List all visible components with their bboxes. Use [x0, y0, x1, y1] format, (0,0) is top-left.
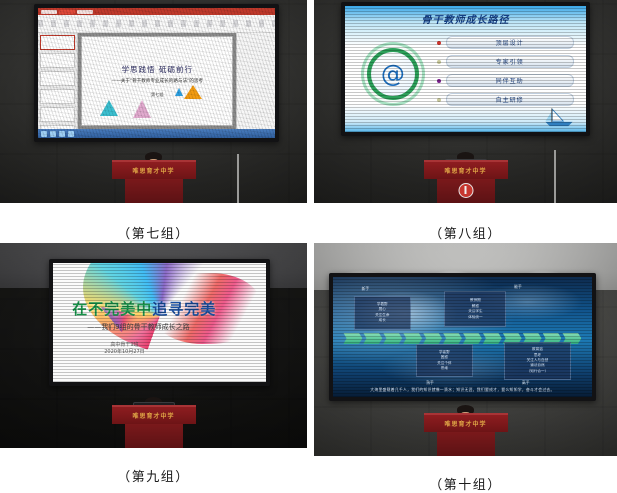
podium: 唯思育才中学	[112, 160, 196, 203]
led-screen: 学思践悟 砥砺前行 ——关于"骨干教师专业成长的路与法"的思考 第七组	[38, 8, 276, 138]
powerpoint-titlebar	[38, 8, 276, 15]
timeline-chevron-icon	[363, 333, 382, 344]
screen-stand	[237, 154, 239, 203]
figure-caption-group-9: （第九组）	[0, 466, 307, 485]
led-screen: 学着野 展心 关注生命 成长 教师期 解惑 关注学生 体验统一	[333, 277, 592, 397]
photo-group-7: 学思践悟 砥砺前行 ——关于"骨干教师专业成长的路与法"的思考 第七组	[0, 0, 307, 203]
bullet-label: 顶层设计	[446, 36, 574, 49]
stage-label-master: 高手	[522, 380, 530, 386]
photo-grid: 学思践悟 砥砺前行 ——关于"骨干教师专业成长的路与法"的思考 第七组	[0, 0, 617, 493]
led-screen: 在不完美中追寻完美 ——我们9组的骨干教师成长之路 高中骨干9班 2020年10…	[53, 263, 266, 382]
slide-thumbnail	[40, 35, 75, 50]
sailboat-icon	[542, 105, 576, 127]
podium-base	[125, 424, 183, 448]
podium-front-panel: 唯思育才中学	[112, 160, 196, 179]
led-screen-frame: 学思践悟 砥砺前行 ——关于"骨干教师专业成长的路与法"的思考 第七组	[34, 4, 280, 142]
powerpoint-body: 学思践悟 砥砺前行 ——关于"骨干教师专业成长的路与法"的思考 第七组	[38, 33, 276, 129]
podium-base	[437, 432, 495, 456]
bullet-label: 同伴互助	[446, 74, 574, 87]
bullet-row: 顶层设计	[437, 36, 574, 49]
photo-group-8: 骨干教师成长路径 @ 顶层设计 专家引领	[314, 0, 617, 203]
timeline-chevron-icon	[443, 333, 462, 344]
timeline-chevron-icon	[343, 333, 362, 344]
stage-label-expert: 能手	[514, 284, 522, 290]
podium-base	[437, 179, 495, 203]
led-screen: 骨干教师成长路径 @ 顶层设计 专家引领	[345, 6, 585, 132]
slide-meta-date: 2020年10月27日	[104, 349, 144, 357]
podium-school-name: 唯思育才中学	[132, 411, 174, 420]
format-side-pane	[236, 33, 275, 129]
figure-caption-group-10: （第十组）	[314, 474, 617, 493]
slide-subtitle: ——关于"骨干教师专业成长的路与法"的思考	[112, 78, 204, 84]
roadmap-box-lower-center: 学者野 困惑 关注个体 思维	[416, 344, 473, 378]
box-line: 思维	[441, 366, 448, 371]
slide-title: 学思践悟 砥砺前行	[122, 64, 193, 75]
slide-pursuit-perfection: 在不完美中追寻完美 ——我们9组的骨干教师成长之路 高中骨干9班 2020年10…	[53, 263, 266, 382]
podium: 唯思育才中学	[112, 405, 196, 448]
timeline-chevron-icon	[383, 333, 402, 344]
podium-school-name: 唯思育才中学	[444, 166, 486, 175]
led-screen-frame: 学着野 展心 关注生命 成长 教师期 解惑 关注学生 体验统一	[329, 273, 596, 401]
slide-title: 骨干教师成长路径	[345, 6, 585, 26]
podium: 唯思育才中学	[424, 413, 508, 456]
bullet-row: 同伴互助	[437, 74, 574, 87]
slide-footer-text: 大海里盛载着几千人，我们的知识就像一滴水；知识无涯，我们要成才，要么知如学，奋斗…	[343, 387, 581, 393]
powerpoint-ribbon	[38, 15, 276, 33]
powerpoint-window: 学思践悟 砥砺前行 ——关于"骨干教师专业成长的路与法"的思考 第七组	[38, 8, 276, 138]
box-line: （知行合一）	[527, 369, 549, 374]
photo-group-9: 在不完美中追寻完美 ——我们9组的骨干教师成长之路 高中骨干9班 2020年10…	[0, 243, 307, 448]
teal-triangle-icon	[100, 100, 118, 116]
timeline-chevron-icon	[483, 333, 502, 344]
slide-thumbnail	[40, 107, 75, 122]
timeline-chevron-icon	[403, 333, 422, 344]
bullet-row: 专家引领	[437, 55, 574, 68]
figure-cell-group-10: 学着野 展心 关注生命 成长 教师期 解惑 关注学生 体验统一	[314, 243, 617, 493]
led-screen-frame: 在不完美中追寻完美 ——我们9组的骨干教师成长之路 高中骨干9班 2020年10…	[49, 259, 270, 386]
titlebar-tab-icon	[77, 10, 93, 14]
slide-ocean-roadmap: 学着野 展心 关注生命 成长 教师期 解惑 关注学生 体验统一	[333, 277, 592, 397]
bullet-dot-icon	[437, 60, 441, 64]
figure-caption-group-8: （第八组）	[314, 223, 617, 242]
podium-school-name: 唯思育才中学	[132, 166, 174, 175]
timeline-chevron-icon	[463, 333, 482, 344]
slide-footer: 第七组	[151, 92, 164, 98]
titlebar-tab-icon	[59, 10, 75, 14]
slide-meta: 高中骨干9班 2020年10月27日	[104, 342, 144, 357]
slide-canvas: 学思践悟 砥砺前行 ——关于"骨干教师专业成长的路与法"的思考 第七组	[81, 36, 233, 126]
photo-group-10: 学着野 展心 关注生命 成长 教师期 解惑 关注学生 体验统一	[314, 243, 617, 456]
podium: 唯思育才中学	[424, 160, 508, 203]
taskbar-icon[interactable]	[68, 131, 74, 137]
podium-base	[125, 179, 183, 203]
slide-editing-stage: 学思践悟 砥砺前行 ——关于"骨干教师专业成长的路与法"的思考 第七组	[78, 33, 236, 129]
slide-thumbnail	[40, 53, 75, 68]
slide-thumbnail-pane	[38, 33, 78, 129]
podium-front-panel: 唯思育才中学	[424, 160, 508, 179]
figure-caption-group-7: （第七组）	[0, 223, 307, 242]
slide-bullet-list: 顶层设计 专家引领 同伴互助	[437, 36, 574, 106]
figure-grid-page: 学思践悟 砥砺前行 ——关于"骨干教师专业成长的路与法"的思考 第七组	[0, 0, 617, 493]
podium-front-panel: 唯思育才中学	[424, 413, 508, 432]
led-screen-frame: 骨干教师成长路径 @ 顶层设计 专家引领	[341, 2, 589, 136]
figure-cell-group-9: 在不完美中追寻完美 ——我们9组的骨干教师成长之路 高中骨干9班 2020年10…	[0, 243, 307, 493]
windows-taskbar	[38, 129, 276, 138]
roadmap-box-lower-right: 教育追 思考 关注人与自然 道法自然 （知行合一）	[504, 342, 571, 380]
bullet-dot-icon	[437, 98, 441, 102]
figure-cell-group-8: 骨干教师成长路径 @ 顶层设计 专家引领	[314, 0, 617, 243]
slide-thumbnail	[40, 71, 75, 86]
slide-title-part-2: 追寻完美	[152, 300, 216, 318]
slide-title-part-1: 在不完美中	[72, 300, 152, 318]
pink-triangle-icon	[133, 100, 151, 118]
box-line: 体验统一	[468, 315, 482, 320]
podium-school-name: 唯思育才中学	[444, 419, 486, 428]
taskbar-icon[interactable]	[50, 131, 56, 137]
slide-thumbnail	[40, 89, 75, 104]
slide-title: 在不完美中追寻完美	[72, 298, 216, 319]
stage-label-novice: 新手	[362, 286, 370, 292]
figure-cell-group-7: 学思践悟 砥砺前行 ——关于"骨干教师专业成长的路与法"的思考 第七组	[0, 0, 307, 243]
titlebar-tab-icon	[41, 10, 57, 14]
blue-triangle-icon	[175, 88, 183, 96]
timeline-chevron-icon	[423, 333, 442, 344]
school-emblem-icon	[458, 183, 473, 198]
slide-growth-path: 骨干教师成长路径 @ 顶层设计 专家引领	[345, 6, 585, 132]
roadmap-box-upper-center: 教师期 解惑 关注学生 体验统一	[444, 291, 506, 327]
at-sign-icon: @	[367, 48, 419, 100]
stage-label-skilled: 熟手	[426, 380, 434, 386]
screen-stand	[554, 150, 556, 203]
slide-subtitle: ——我们9组的骨干教师成长之路	[87, 322, 189, 332]
roadmap-box-upper-left: 学着野 展心 关注生命 成长	[354, 296, 411, 330]
podium-front-panel: 唯思育才中学	[112, 405, 196, 424]
bullet-dot-icon	[437, 79, 441, 83]
bullet-label: 专家引领	[446, 55, 574, 68]
multicolor-triangle-icon	[184, 85, 202, 99]
taskbar-icon[interactable]	[59, 131, 65, 137]
taskbar-icon[interactable]	[41, 131, 47, 137]
bullet-dot-icon	[437, 41, 441, 45]
box-line: 成长	[379, 318, 386, 323]
